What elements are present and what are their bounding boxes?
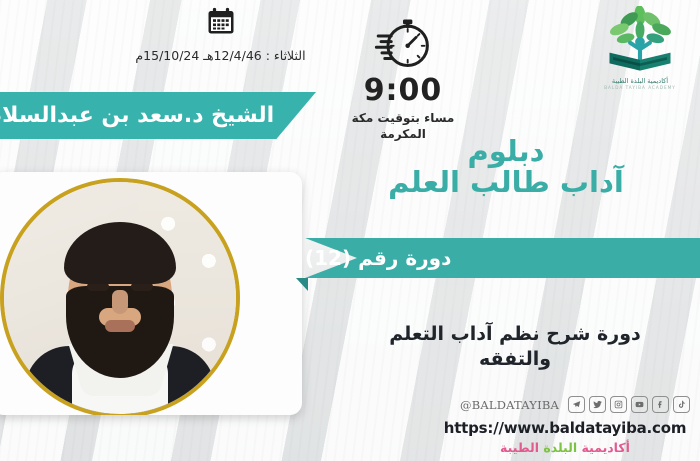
instagram-icon[interactable] <box>610 396 627 413</box>
event-time: 9:00 <box>343 76 463 106</box>
telegram-icon[interactable] <box>568 396 585 413</box>
social-handle: @BALDATAYIBA <box>460 398 559 412</box>
speaker-name: الشيخ د.سعد بن عبدالسلام <box>0 92 288 139</box>
speaker-name-banner: الشيخ د.سعد بن عبدالسلام <box>0 92 316 139</box>
academy-logo-block: أكاديمية البلدة الطيبة BALDA TAYIBA ACAD… <box>588 6 692 90</box>
brand-name-arabic: أكاديمية البلدة الطيبة <box>440 440 690 455</box>
social-links-row: @BALDATAYIBA <box>440 396 690 413</box>
website-url[interactable]: https://www.baldatayiba.com <box>440 419 690 437</box>
facebook-icon[interactable] <box>652 396 669 413</box>
speaker-photo-card <box>0 172 302 415</box>
program-title-line1: دبلوم <box>356 136 656 167</box>
brand-word-1: أكاديمية <box>582 440 630 455</box>
academy-tree-book-logo <box>594 6 686 76</box>
program-title-line2: آداب طالب العلم <box>356 167 656 198</box>
logo-text-english: BALDA TAYIBA ACADEMY <box>588 85 692 90</box>
calendar-icon <box>206 6 236 36</box>
course-number-label: دورة رقم (12) <box>305 238 700 278</box>
footer-block: @BALDATAYIBA https://www.baldatayiba.com… <box>440 396 690 455</box>
date-block: الثلاثاء : 12/4/46هـ 15/10/24م <box>118 6 323 63</box>
course-subtitle: دورة شرح نظم آداب التعلم والتفقه <box>370 322 660 373</box>
tiktok-icon[interactable] <box>673 396 690 413</box>
photo-mouth <box>105 320 135 332</box>
person-figure <box>630 37 650 60</box>
photo-nose <box>112 290 128 314</box>
brand-word-3: الطيبة <box>500 440 539 455</box>
poster-canvas: الثلاثاء : 12/4/46هـ 15/10/24م 9:00 <box>0 0 700 461</box>
timezone-line1: مساء بتوقيت مكة <box>352 111 455 125</box>
brand-word-2: البلدة <box>543 440 577 455</box>
youtube-icon[interactable] <box>631 396 648 413</box>
event-date: الثلاثاء : 12/4/46هـ 15/10/24م <box>118 48 323 63</box>
program-title: دبلوم آداب طالب العلم <box>356 136 656 197</box>
time-block: 9:00 مساء بتوقيت مكة المكرمة <box>343 12 463 142</box>
twitter-icon[interactable] <box>589 396 606 413</box>
speaker-avatar <box>0 178 240 415</box>
stopwatch-icon <box>373 12 433 72</box>
logo-text-arabic: أكاديمية البلدة الطيبة <box>588 77 692 85</box>
